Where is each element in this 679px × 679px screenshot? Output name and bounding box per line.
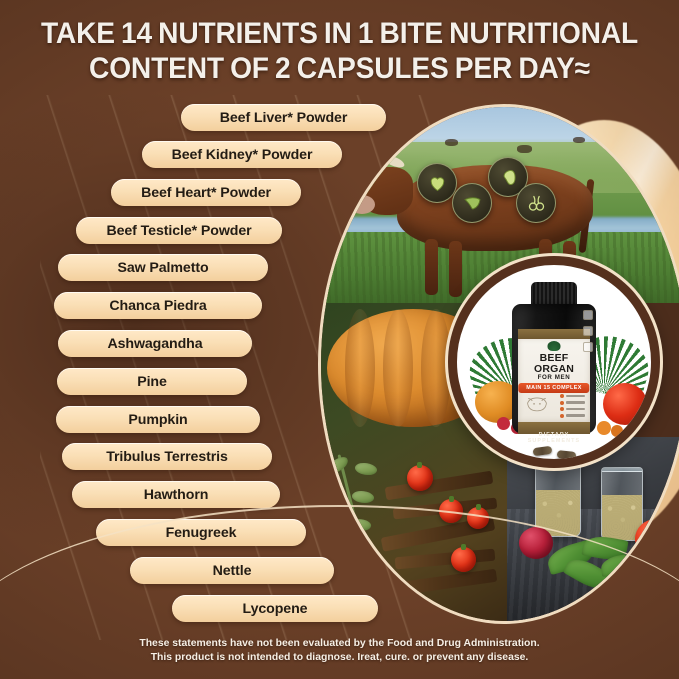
label-benefit-item [560,401,585,405]
red-apple [519,527,553,559]
bark-piece [377,569,498,599]
label-line-3: FOR MEN [522,375,586,381]
ingredient-label: Beef Testicle* Powder [106,223,251,239]
cow-leg [449,241,462,297]
distant-cow [517,145,532,153]
label-benefit-item [560,407,585,411]
product-circle: BEEF ORGAN FOR MEN MAIN 15 COMPLEX [448,256,660,468]
label-benefit-list [560,394,585,420]
ingredient-pill[interactable]: Saw Palmetto [58,254,268,281]
ingredient-label: Hawthorn [144,487,209,503]
ingredient-pill[interactable]: Beef Kidney* Powder [142,141,342,168]
bottle-body: BEEF ORGAN FOR MEN MAIN 15 COMPLEX [512,304,596,434]
photo-collage: BEEF ORGAN FOR MEN MAIN 15 COMPLEX [318,104,679,624]
herb-leaf [322,483,347,502]
ingredient-label: Ashwagandha [107,336,202,352]
liver-organ-icon [452,183,492,223]
cow-muzzle [349,195,375,214]
disclaimer-line-2: This product is not intended to diagnose… [40,651,639,665]
label-complex-badge: MAIN 15 COMPLEX [518,383,589,393]
herb-leaf [321,512,344,531]
brand-logo-icon [548,341,561,351]
ingredient-label: Chanca Piedra [109,298,206,314]
berry [597,421,611,435]
cherry-tomato [467,507,489,529]
distant-cow [379,143,393,150]
herb-leaf [348,517,372,533]
product-bottle: BEEF ORGAN FOR MEN MAIN 15 COMPLEX [512,282,596,434]
label-band-bottom: DIETARY SUPPLEMENTS [518,422,590,434]
ingredient-label: Lycopene [243,601,308,617]
ingredient-label: Saw Palmetto [117,260,208,276]
ingredient-pill[interactable]: Ashwagandha [58,330,252,357]
label-band-top [518,329,590,339]
bark-piece [385,471,494,501]
disclaimer: These statements have not been evaluated… [0,637,679,665]
title-line-1: TAKE 14 NUTRIENTS IN 1 BITE NUTRITIONAL [27,17,653,52]
berry [611,425,623,437]
ingredient-label: Beef Heart* Powder [141,185,271,201]
tomato [635,519,677,559]
bottle-label: BEEF ORGAN FOR MEN MAIN 15 COMPLEX [518,338,590,422]
ingredient-pill[interactable]: Beef Testicle* Powder [76,217,282,244]
ingredient-pill[interactable]: Beef Heart* Powder [111,179,301,206]
herb-leaf [354,460,378,478]
herb-leaf [350,545,374,561]
page-title: TAKE 14 NUTRIENTS IN 1 BITE NUTRITIONAL … [0,17,679,86]
cherry-tomato [439,499,463,523]
ingredient-label: Fenugreek [166,525,237,541]
ingredient-pill[interactable]: Fenugreek [96,519,306,546]
ingredient-label: Beef Kidney* Powder [172,147,313,163]
ingredient-pill[interactable]: Beef Liver* Powder [181,104,386,131]
disclaimer-line-1: These statements have not been evaluated… [40,637,639,651]
ingredient-label: Nettle [213,563,252,579]
label-benefit-item [560,394,585,398]
title-line-2: CONTENT OF 2 CAPSULES PER DAY≈ [27,52,653,87]
jar-lid [601,467,643,472]
herb-leaf [351,489,375,506]
ingredient-pill[interactable]: Pumpkin [56,406,260,433]
ingredient-label: Beef Liver* Powder [220,110,348,126]
cow-leg [425,239,438,295]
cow-outline-icon [525,395,549,415]
distant-cow [633,147,647,154]
label-line-2: ORGAN [522,364,586,375]
ingredient-pill[interactable]: Nettle [130,557,334,584]
label-footer-text: DIETARY SUPPLEMENTS [518,432,590,444]
seed-jar [535,461,581,537]
distant-cow [573,137,585,143]
bark-piece [395,549,496,570]
heart-organ-icon [417,163,457,203]
cherry-tomato [407,465,433,491]
ingredient-label: Pine [137,374,167,390]
cherry-tomato [451,547,476,572]
label-benefit-item [560,414,585,418]
ingredient-label: Pumpkin [128,412,187,428]
loose-capsule [545,459,564,468]
loose-capsule [533,446,553,457]
nutrient-infographic: TAKE 14 NUTRIENTS IN 1 BITE NUTRITIONAL … [0,0,679,679]
testicle-organ-icon [516,183,556,223]
berry [497,417,510,430]
herb-leaf [324,540,349,558]
ingredient-pill[interactable]: Chanca Piedra [54,292,262,319]
tomato-slice [603,383,647,425]
ingredient-pill[interactable]: Tribulus Terrestris [62,443,272,470]
label-title: BEEF ORGAN FOR MEN [522,353,586,382]
distant-cow [445,139,458,146]
ingredient-pill[interactable]: Pine [57,368,247,395]
herb-leaf [325,455,350,475]
ingredient-label: Tribulus Terrestris [106,449,228,465]
label-side-tabs [583,310,593,358]
ingredient-pill[interactable]: Lycopene [172,595,378,622]
ingredient-pill[interactable]: Hawthorn [72,481,280,508]
